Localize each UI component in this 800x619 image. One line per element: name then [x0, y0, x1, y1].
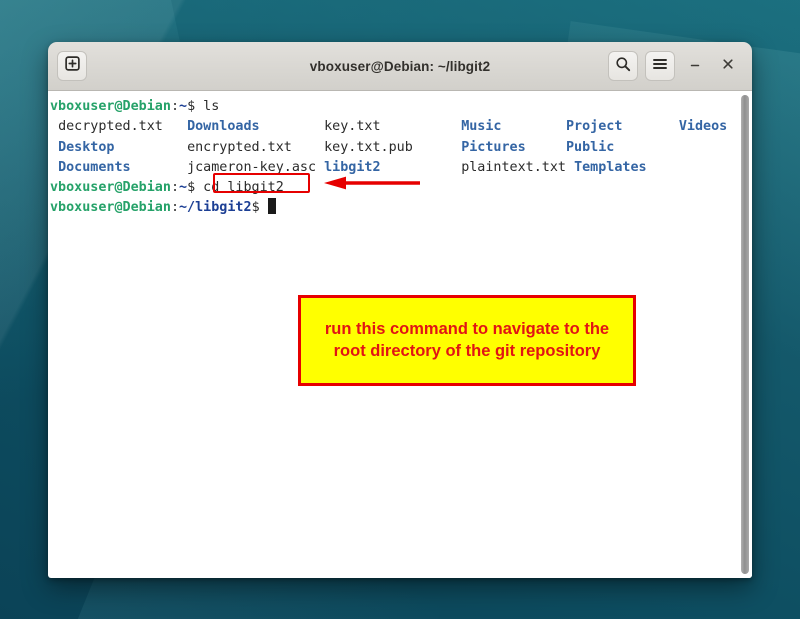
new-tab-button[interactable]: [57, 51, 87, 81]
titlebar-controls: [608, 51, 741, 81]
annotation-callout-text: run this command to navigate to the root…: [311, 319, 623, 362]
minimize-button[interactable]: [682, 53, 708, 79]
prompt-colon: :: [171, 180, 179, 195]
minimize-icon: [688, 57, 702, 75]
listing-directory: libgit2: [324, 160, 380, 175]
prompt-colon: :: [171, 200, 179, 215]
search-icon: [615, 56, 631, 77]
listing-directory: Downloads: [187, 119, 260, 134]
terminal-command: cd libgit2: [195, 180, 284, 195]
prompt-user: vboxuser@Debian: [50, 99, 171, 114]
close-icon: [721, 57, 735, 76]
listing-directory: Public: [566, 140, 614, 155]
prompt-colon: :: [171, 99, 179, 114]
prompt-user: vboxuser@Debian: [50, 200, 171, 215]
prompt-path: ~/libgit2: [179, 200, 252, 215]
hamburger-menu-icon: [652, 57, 668, 76]
close-button[interactable]: [715, 53, 741, 79]
listing-directory: Music: [461, 119, 501, 134]
listing-directory: Pictures: [461, 140, 526, 155]
listing-directory: Documents: [58, 160, 131, 175]
prompt-path: ~: [179, 99, 187, 114]
menu-button[interactable]: [645, 51, 675, 81]
listing-directory: Videos: [679, 119, 727, 134]
listing-file: key.txt: [324, 119, 380, 134]
prompt-path: ~: [179, 180, 187, 195]
listing-directory: Desktop: [58, 140, 114, 155]
prompt-dollar: $: [187, 180, 195, 195]
listing-directory: Project: [566, 119, 622, 134]
listing-file: decrypted.txt: [58, 119, 163, 134]
annotation-callout: run this command to navigate to the root…: [298, 295, 636, 386]
listing-file: encrypted.txt: [187, 140, 292, 155]
prompt-dollar: $: [252, 200, 260, 215]
terminal-command: [260, 200, 268, 215]
terminal-cursor: [268, 198, 276, 214]
search-button[interactable]: [608, 51, 638, 81]
prompt-dollar: $: [187, 99, 195, 114]
terminal-scrollbar[interactable]: [738, 91, 752, 578]
prompt-user: vboxuser@Debian: [50, 180, 171, 195]
listing-file: jcameron-key.asc: [187, 160, 316, 175]
listing-directory: Templates: [574, 160, 647, 175]
listing-file: plaintext.txt: [461, 160, 566, 175]
terminal-command: ls: [195, 99, 219, 114]
window-titlebar[interactable]: vboxuser@Debian: ~/libgit2: [48, 42, 752, 91]
scrollbar-thumb[interactable]: [741, 95, 749, 574]
new-tab-plus-icon: [65, 56, 80, 76]
listing-file: key.txt.pub: [324, 140, 413, 155]
